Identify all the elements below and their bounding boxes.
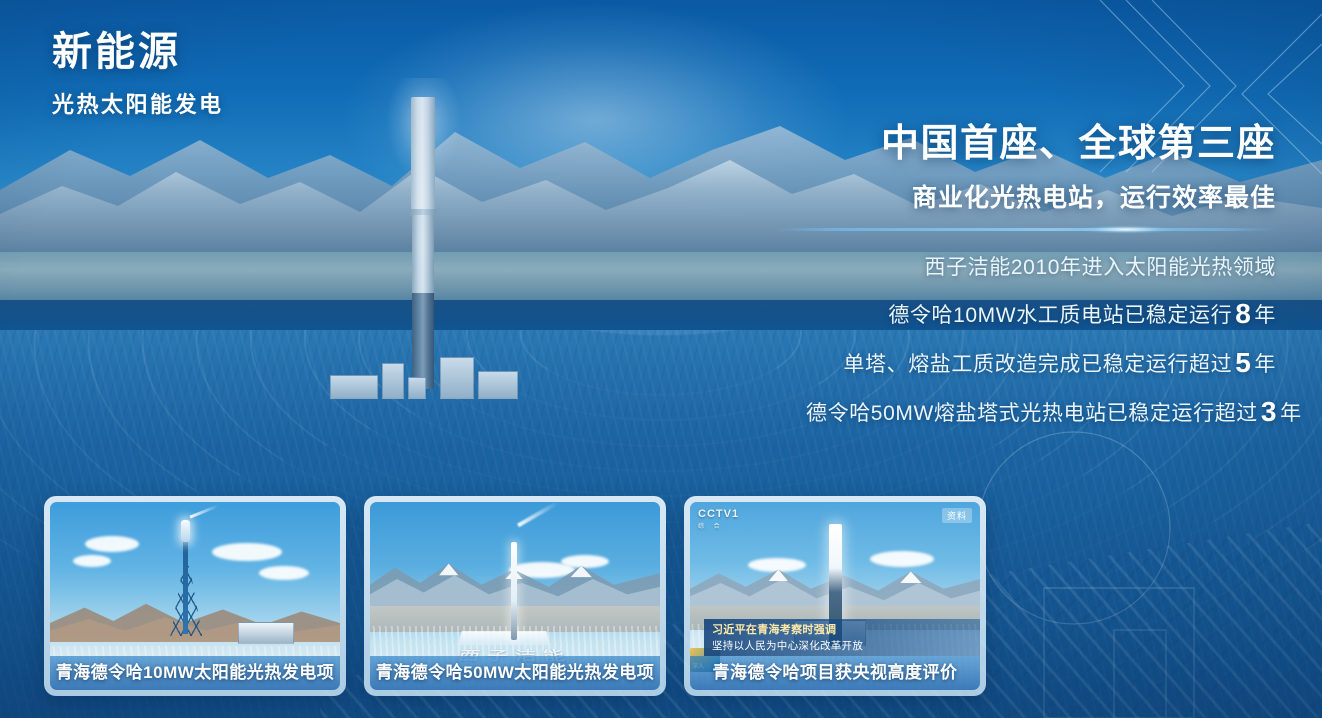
cctv-channel-logo: CCTV1 综 合 — [698, 508, 739, 530]
card2-tower — [511, 542, 517, 640]
cloud — [73, 555, 111, 567]
fact-number: 8 — [1232, 298, 1254, 329]
fact-unit: 年 — [1254, 304, 1276, 327]
project-thumbnail-row: 青海德令哈10MW太阳能光热发电项目 — [44, 496, 986, 696]
headline-primary: 中国首座、全球第三座 — [806, 112, 1276, 167]
fact-list: 西子洁能2010年进入太阳能光热领域德令哈10MW水工质电站已稳定运行8年单塔、… — [806, 251, 1276, 428]
fact-unit: 年 — [1280, 402, 1302, 425]
card-caption: 青海德令哈10MW太阳能光热发电项目 — [50, 656, 340, 690]
cloud — [259, 566, 309, 580]
page-title: 新能源 — [52, 30, 224, 75]
project-card-image: CCTV1 综 合 资料 深入 习近平在青海考察时强调 坚持以人民为中心深化改革… — [690, 502, 980, 690]
tower-receiver-section — [411, 97, 435, 215]
news-ticker: 习近平在青海考察时强调 坚持以人民为中心深化改革开放 — [704, 619, 980, 656]
card1-tower-mast — [183, 530, 188, 634]
solar-power-tower — [409, 97, 437, 389]
card1-plant-building — [238, 622, 294, 644]
fact-line: 西子洁能2010年进入太阳能光热领域 — [806, 251, 1276, 281]
project-card[interactable]: 青海德令哈10MW太阳能光热发电项目 — [44, 496, 346, 696]
power-block-buildings — [330, 355, 520, 401]
project-card-image: 青海德令哈10MW太阳能光热发电项目 — [50, 502, 340, 690]
fact-number: 5 — [1232, 347, 1254, 378]
headline-secondary: 商业化光热电站，运行效率最佳 — [806, 178, 1276, 214]
tower-mid-section — [412, 215, 434, 295]
project-card-image: 西子洁能 青海德令哈50MW太阳能光热发电项目 — [370, 502, 660, 690]
fact-text: 德令哈10MW水工质电站已稳定运行 — [888, 304, 1232, 327]
cctv-subtitle: 综 合 — [698, 521, 739, 530]
page-subtitle: 光热太阳能发电 — [52, 87, 224, 119]
card-caption: 青海德令哈项目获央视高度评价 — [690, 656, 980, 690]
fact-line: 德令哈10MW水工质电站已稳定运行8年 — [806, 298, 1276, 330]
fact-text: 德令哈50MW熔盐塔式光热电站已稳定运行超过 — [806, 402, 1258, 425]
fact-line: 德令哈50MW熔盐塔式光热电站已稳定运行超过3年 — [806, 396, 1276, 428]
project-card[interactable]: 西子洁能 青海德令哈50MW太阳能光热发电项目 — [364, 496, 666, 696]
cloud — [85, 536, 139, 552]
fact-unit: 年 — [1254, 353, 1276, 376]
right-heading-block: 中国首座、全球第三座 商业化光热电站，运行效率最佳 西子洁能2010年进入太阳能… — [806, 112, 1276, 445]
news-ticker-headline: 习近平在青海考察时强调 — [712, 621, 974, 637]
card2-service-hall — [458, 631, 550, 645]
card1-receiver — [181, 520, 190, 542]
fact-text: 单塔、熔盐工质改造完成已稳定运行超过 — [843, 353, 1232, 376]
fact-number: 3 — [1258, 396, 1280, 427]
card-caption: 青海德令哈50MW太阳能光热发电项目 — [370, 656, 660, 690]
cctv-number: 1 — [732, 508, 739, 520]
fact-line: 单塔、熔盐工质改造完成已稳定运行超过5年 — [806, 347, 1276, 379]
news-ticker-subline: 坚持以人民为中心深化改革开放 — [712, 638, 974, 653]
cctv-name: CCTV — [698, 508, 732, 520]
slide-root: 新能源 光热太阳能发电 中国首座、全球第三座 商业化光热电站，运行效率最佳 西子… — [0, 0, 1322, 718]
fact-text: 西子洁能2010年进入太阳能光热领域 — [924, 256, 1276, 279]
archive-badge: 资料 — [942, 508, 972, 523]
project-card[interactable]: CCTV1 综 合 资料 深入 习近平在青海考察时强调 坚持以人民为中心深化改革… — [684, 496, 986, 696]
left-title-block: 新能源 光热太阳能发电 — [52, 30, 224, 119]
glowing-divider — [776, 228, 1276, 231]
